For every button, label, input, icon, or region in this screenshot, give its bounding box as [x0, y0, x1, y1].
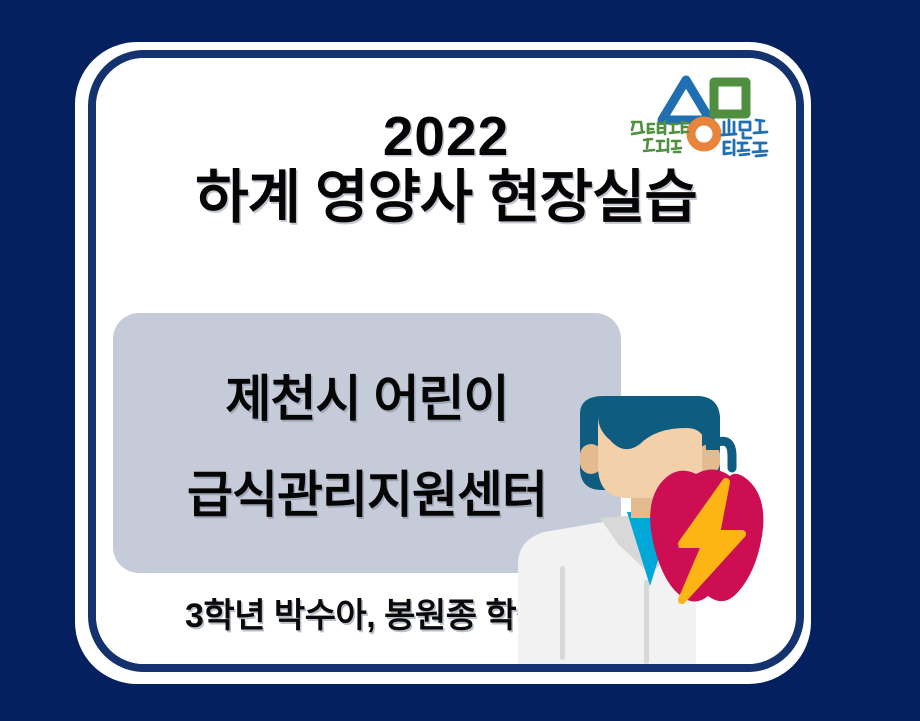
institution-line-2: 급식관리지원센터: [187, 455, 547, 527]
card-content-area: 2022 하계 영양사 현장실습 제천시 어린이 급식관리지원센터 3학년 박수…: [96, 58, 796, 664]
institution-line-1: 제천시 어린이: [226, 359, 509, 431]
headline-title: 하계 영양사 현장실습: [96, 168, 796, 227]
headline-year: 2022: [96, 108, 796, 164]
nutritionist-with-apple-illustration: [500, 394, 796, 664]
headline-block: 2022 하계 영양사 현장실습: [96, 108, 796, 227]
apple-stem-icon: [718, 441, 732, 468]
poster-canvas: 2022 하계 영양사 현장실습 제천시 어린이 급식관리지원센터 3학년 박수…: [0, 0, 920, 721]
